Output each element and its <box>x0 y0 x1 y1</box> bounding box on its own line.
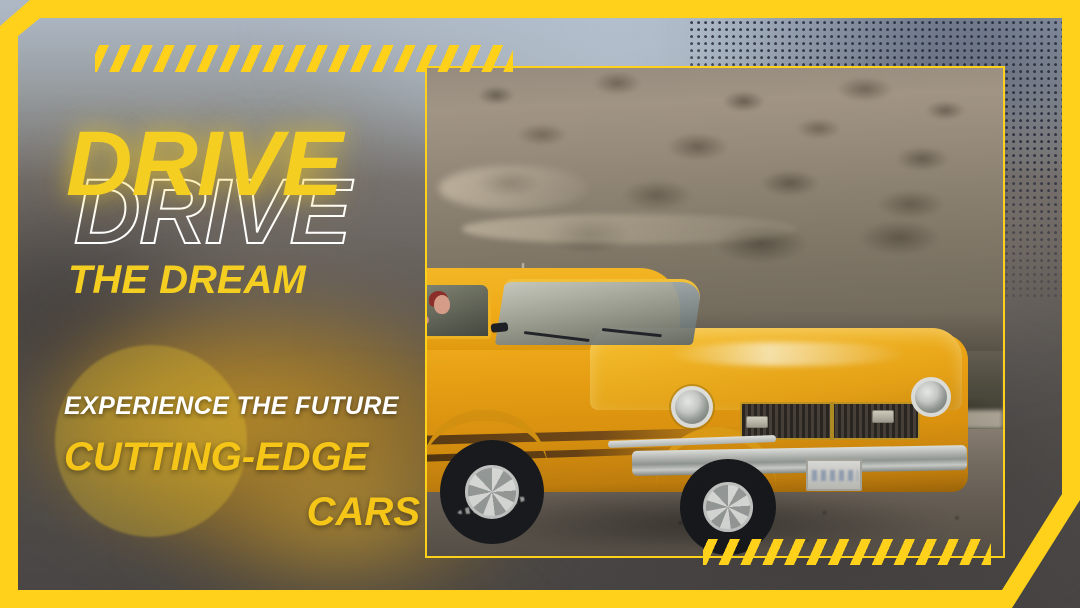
the-dream-text: THE DREAM <box>68 258 306 303</box>
drive-filled-text: DRIVE <box>66 118 342 210</box>
photo-color-grade <box>427 68 1003 556</box>
headline-copy-block: DRIVE DRIVE THE DREAM EXPERIENCE THE FUT… <box>0 0 430 608</box>
feature-copy-block: EXPERIENCE THE FUTURE CUTTING-EDGE CARS <box>64 392 434 535</box>
drive-wordmark: DRIVE DRIVE <box>66 118 426 268</box>
promo-banner: DRIVE DRIVE THE DREAM EXPERIENCE THE FUT… <box>0 0 1080 608</box>
feature-text-line-1: CUTTING-EDGE <box>64 435 434 480</box>
feature-text-line-2: CARS <box>64 490 434 535</box>
hero-photo-card <box>425 66 1005 558</box>
hero-photo <box>427 68 1003 556</box>
kicker-text: EXPERIENCE THE FUTURE <box>64 392 434 421</box>
